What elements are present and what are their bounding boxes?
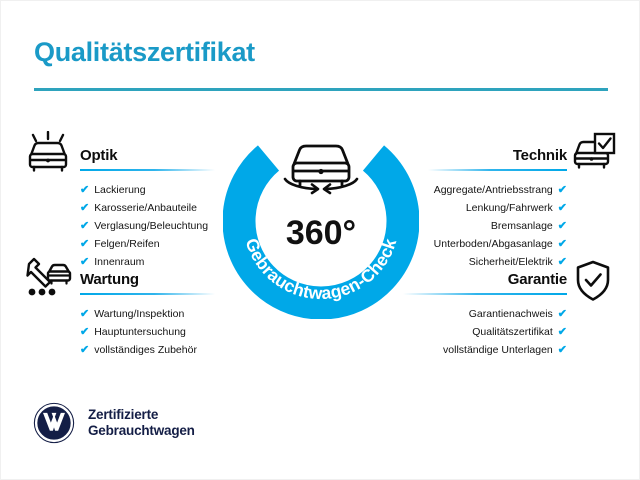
section-technik: Technik Aggregate/Antriebsstrang ✔ Lenku… (428, 147, 567, 272)
list-item-label: vollständiges Zubehör (94, 342, 197, 358)
list-item: ✔ Hauptuntersuchung (80, 324, 215, 340)
footer-brand: Zertifizierte Gebrauchtwagen (32, 401, 195, 445)
list-item-label: Innenraum (94, 254, 144, 270)
section-garantie-divider (403, 293, 567, 295)
check-icon: ✔ (558, 218, 567, 234)
footer-text: Zertifizierte Gebrauchtwagen (88, 407, 195, 440)
section-optik-header: Optik (80, 147, 215, 173)
list-item: Aggregate/Antriebsstrang ✔ (428, 182, 567, 198)
check-icon: ✔ (80, 254, 89, 270)
section-garantie-list: Garantienachweis ✔ Qualitätszertifikat ✔… (403, 306, 567, 358)
list-item: ✔ Karosserie/Anbauteile (80, 200, 215, 216)
section-wartung-divider (80, 293, 215, 295)
list-item-label: Felgen/Reifen (94, 236, 159, 252)
section-garantie: Garantie Garantienachweis ✔ Qualitätszer… (403, 271, 567, 360)
check-icon: ✔ (558, 236, 567, 252)
check-icon: ✔ (558, 342, 567, 358)
check-icon: ✔ (80, 236, 89, 252)
badge-center-label: 360° (286, 214, 356, 252)
list-item: Lenkung/Fahrwerk ✔ (428, 200, 567, 216)
section-garantie-header: Garantie (403, 271, 567, 297)
car-shine-icon (25, 131, 71, 178)
list-item-label: Lenkung/Fahrwerk (466, 200, 553, 216)
list-item-label: Sicherheit/Elektrik (469, 254, 553, 270)
check-icon: ✔ (558, 200, 567, 216)
list-item: vollständige Unterlagen ✔ (403, 342, 567, 358)
list-item-label: Hauptuntersuchung (94, 324, 186, 340)
check-icon: ✔ (80, 200, 89, 216)
section-technik-divider (428, 169, 567, 171)
check-icon: ✔ (80, 182, 89, 198)
list-item: ✔ Felgen/Reifen (80, 236, 215, 252)
list-item-label: Unterboden/Abgasanlage (434, 236, 553, 252)
list-item: Sicherheit/Elektrik ✔ (428, 254, 567, 270)
list-item-label: vollständige Unterlagen (443, 342, 553, 358)
section-wartung-header: Wartung (80, 271, 215, 297)
list-item: Unterboden/Abgasanlage ✔ (428, 236, 567, 252)
shield-check-icon (574, 260, 612, 307)
badge-360-gebrauchtwagen-check: Gebrauchtwagen-Check 360° (223, 123, 419, 319)
section-wartung-list: ✔ Wartung/Inspektion ✔ Hauptuntersuchung… (80, 306, 215, 358)
vw-logo (32, 401, 76, 445)
section-technik-header: Technik (428, 147, 567, 173)
section-technik-list: Aggregate/Antriebsstrang ✔ Lenkung/Fahrw… (428, 182, 567, 270)
footer-line-2: Gebrauchtwagen (88, 423, 195, 440)
list-item-label: Lackierung (94, 182, 145, 198)
list-item-label: Garantienachweis (469, 306, 553, 322)
list-item-label: Qualitätszertifikat (472, 324, 553, 340)
section-technik-title: Technik (428, 147, 567, 165)
check-icon: ✔ (80, 342, 89, 358)
list-item: Garantienachweis ✔ (403, 306, 567, 322)
list-item-label: Karosserie/Anbauteile (94, 200, 197, 216)
section-garantie-title: Garantie (403, 271, 567, 289)
check-icon: ✔ (558, 324, 567, 340)
list-item-label: Bremsanlage (491, 218, 553, 234)
list-item: ✔ Wartung/Inspektion (80, 306, 215, 322)
car-checkbox-icon (571, 132, 617, 177)
check-icon: ✔ (558, 182, 567, 198)
section-optik-title: Optik (80, 147, 215, 165)
list-item-label: Aggregate/Antriebsstrang (434, 182, 553, 198)
section-optik: Optik ✔ Lackierung ✔ Karosserie/Anbautei… (80, 147, 215, 272)
list-item-label: Verglasung/Beleuchtung (94, 218, 208, 234)
list-item: ✔ Verglasung/Beleuchtung (80, 218, 215, 234)
section-wartung-title: Wartung (80, 271, 215, 289)
list-item-label: Wartung/Inspektion (94, 306, 184, 322)
page-title: Qualitätszertifikat (34, 37, 255, 68)
section-optik-divider (80, 169, 215, 171)
list-item: Qualitätszertifikat ✔ (403, 324, 567, 340)
list-item: Bremsanlage ✔ (428, 218, 567, 234)
check-icon: ✔ (80, 218, 89, 234)
qualitaetszertifikat-page: Qualitätszertifikat (0, 0, 640, 480)
list-item: ✔ Innenraum (80, 254, 215, 270)
check-icon: ✔ (80, 324, 89, 340)
list-item: ✔ vollständiges Zubehör (80, 342, 215, 358)
list-item: ✔ Lackierung (80, 182, 215, 198)
check-icon: ✔ (558, 306, 567, 322)
check-icon: ✔ (80, 306, 89, 322)
title-divider (34, 88, 608, 91)
section-optik-list: ✔ Lackierung ✔ Karosserie/Anbauteile ✔ V… (80, 182, 215, 270)
wrench-car-icon (23, 257, 73, 304)
check-icon: ✔ (558, 254, 567, 270)
section-wartung: Wartung ✔ Wartung/Inspektion ✔ Hauptunte… (80, 271, 215, 360)
footer-line-1: Zertifizierte (88, 407, 195, 424)
